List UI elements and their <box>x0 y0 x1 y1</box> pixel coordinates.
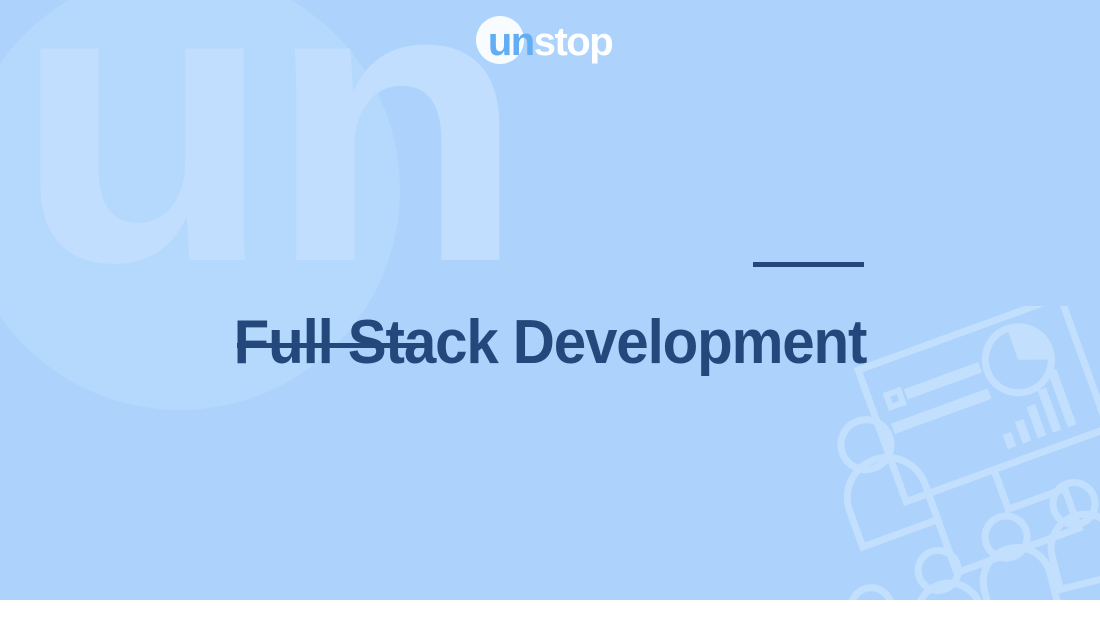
logo-wordmark: un stop <box>488 16 612 68</box>
title-block: Full Stack Development <box>0 255 1100 355</box>
page-title: Full Stack Development <box>33 297 1067 389</box>
logo-text-stop: stop <box>534 16 612 68</box>
footer-strip <box>0 600 1100 630</box>
banner-canvas: un <box>0 0 1100 630</box>
accent-rule-top-right <box>753 262 864 267</box>
banner-background: un <box>0 0 1100 600</box>
accent-rule-bottom-left <box>237 343 425 348</box>
unstop-logo[interactable]: un stop <box>0 16 1100 68</box>
logo-text-un: un <box>488 16 534 68</box>
